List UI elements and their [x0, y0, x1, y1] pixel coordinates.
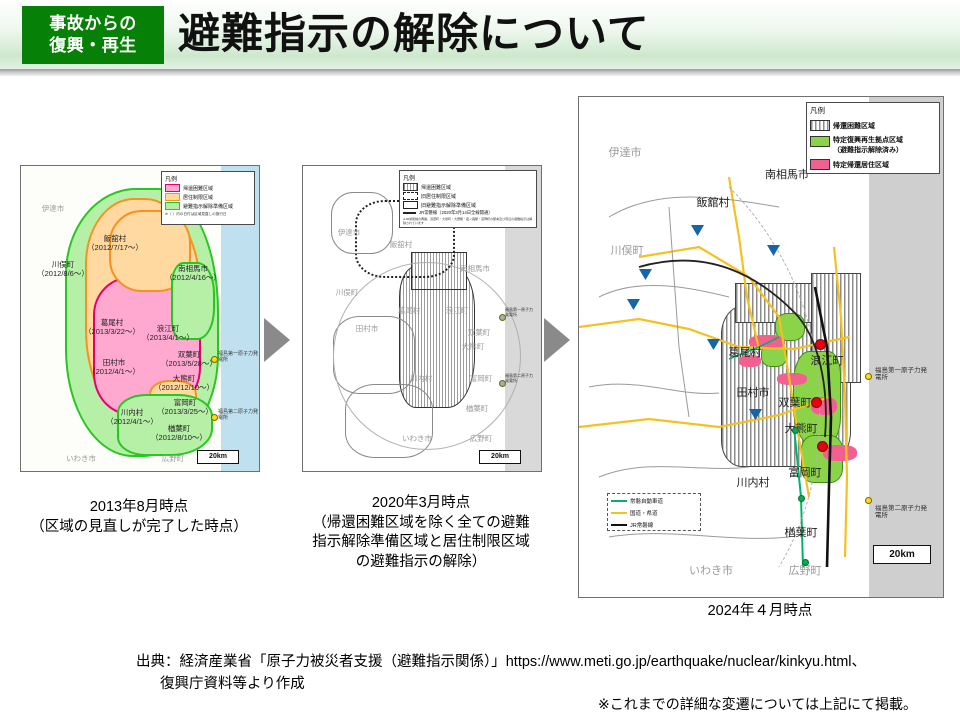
city-label-namie: 浪江町 （2013/4/1～） [139, 324, 197, 342]
legend-swatch-national-prefectural-road [611, 512, 627, 514]
map-2024-road-legend: 常磐自動車道 国道・県道 JR常磐線 [607, 493, 701, 531]
header-category-tag: 事故からの 復興・再生 [22, 6, 164, 64]
legend-item: JR常磐線 [608, 518, 700, 530]
plant-marker-daiichi [865, 373, 872, 380]
map-2013-caption: 2013年8月時点 （区域の見直しが完了した時点） [10, 498, 268, 537]
footnote: ※これまでの詳細な変遷については上記にて掲載。 [598, 694, 917, 714]
city-label-date: 伊達市 [327, 228, 371, 237]
city-label-katsurao: 葛尾村 [387, 306, 431, 315]
city-label-hirono: 広野町 [459, 434, 503, 443]
caption-line: 2020年3月時点 [286, 494, 556, 514]
arrow-2020-to-2024 [544, 318, 570, 362]
legend-title: 凡例 [162, 172, 254, 184]
city-label-tamura: 田村市 （2012/4/1～） [83, 358, 145, 376]
caption-line: 指示解除準備区域と居住制限区域 [286, 533, 556, 553]
city-label-iwaki: いわき市 [57, 454, 105, 463]
legend-label: 常磐自動車道 [630, 497, 663, 505]
legend-swatch-evac-prep [165, 202, 180, 210]
legend-label: JR常磐線 [630, 521, 653, 529]
plant-label-daiichi: 福島第一原子力発電所 [505, 308, 535, 317]
plant-marker-daiichi [211, 356, 218, 363]
city-label-kawamata: 川俣町 （2012/8/6～） [35, 260, 91, 278]
city-label-naraha: 楢葉町 [775, 527, 827, 540]
legend-swatch-specified-return-residence [810, 159, 830, 170]
legend-item: 特定帰還居住区域 [807, 156, 939, 171]
legend-title: 凡例 [400, 171, 536, 183]
marker-point-a [815, 339, 826, 350]
legend-item: 旧居住制限区域 [400, 192, 536, 201]
header-tag-line2: 復興・再生 [49, 35, 137, 57]
plant-marker-daini [211, 414, 218, 421]
plant-label-daiichi: 福島第一原子力発電所 [218, 352, 258, 364]
legend-item: 常磐自動車道 [608, 494, 700, 506]
plant-label-daini: 福島第二原子力発電所 [218, 410, 258, 422]
map-2020-caption: 2020年3月時点 （帰還困難区域を除く全ての避難 指示解除準備区域と居住制限区… [286, 494, 556, 572]
city-label-tomioka: 富岡町 [779, 467, 831, 480]
legend-swatch-residence-restricted [165, 193, 180, 201]
city-label-kawauchi: 川内村 [727, 477, 779, 490]
legend-swatch-former-residence-restricted [403, 192, 418, 200]
legend-item: 特定復興再生拠点区域 （避難指示解除済み） [807, 132, 939, 156]
caption-line: （帰還困難区域を除く全ての避難 [286, 514, 556, 534]
city-label-minamisoma: 南相馬市 （2012/4/16～） [161, 264, 225, 282]
plant-label-daiichi: 福島第一原子力発電所 [875, 367, 927, 382]
city-label-katsurao: 葛尾村 [719, 347, 771, 360]
marker-point-b [811, 397, 822, 408]
legend-item: 居住制限区域 [162, 193, 254, 202]
legend-label: 旧避難指示解除準備区域 [421, 202, 476, 209]
source-citation: 出典：経済産業省「原子力被災者支援（避難指示関係）」https://www.me… [136, 652, 952, 696]
legend-item: 帰還困難区域 [807, 117, 939, 132]
city-label-katsurao: 葛尾村 （2013/3/22～） [83, 318, 141, 336]
scale-bar: 20km [197, 450, 239, 464]
city-label-naraha: 楢葉町 [455, 404, 499, 413]
plant-marker-daini [865, 497, 872, 504]
city-label-tamura: 田村市 [345, 324, 389, 333]
map-2024: 伊達市 川俣町 飯舘村 南相馬市 葛尾村 浪江町 田村市 双葉町 大熊町 富岡町… [578, 96, 944, 598]
city-label-date: 伊達市 [599, 147, 651, 160]
scale-bar: 20km [479, 450, 521, 464]
city-label-iitate: 飯舘村 [687, 197, 739, 210]
legend-label: 帰還困難区域 [183, 185, 213, 192]
legend-label: 帰還困難区域 [421, 184, 451, 191]
map-2013: 伊達市 川俣町 （2012/8/6～） 飯舘村 （2012/7/17～） 南相馬… [20, 165, 260, 472]
legend-label: 国道・県道 [630, 509, 658, 517]
caption-line: 2024年４月時点 [578, 602, 942, 622]
marker-point-c [817, 441, 828, 452]
header-tag-line1: 事故からの [49, 13, 137, 35]
legend-swatch-difficult-return [403, 183, 418, 191]
map-2020-legend: 凡例 帰還困難区域 旧居住制限区域 旧避難指示解除準備区域 JR常磐線（2020… [399, 170, 537, 228]
plant-label-daini: 福島第二原子力発電所 [875, 505, 927, 520]
city-label-futaba: 双葉町 [457, 328, 501, 337]
city-label-kawamata: 川俣町 [325, 288, 369, 297]
caption-line: の避難指示の解除） [286, 553, 556, 573]
city-label-naraha: 楢葉町 （2012/8/10～） [149, 424, 209, 442]
legend-note: ※JR常磐線の再開、双葉町・大熊町・大野駅・夜ノ森駅・富岡町の駅舎及び周辺の避難… [400, 217, 536, 227]
caption-line: （区域の見直しが完了した時点） [10, 518, 268, 538]
source-line-2: 復興庁資料等より作成 [136, 674, 952, 696]
legend-label: 居住制限区域 [183, 194, 213, 201]
legend-swatch-difficult-return [165, 184, 180, 192]
legend-swatch-jr-joban-line [611, 524, 627, 527]
city-label-namie: 浪江町 [801, 355, 853, 368]
city-label-kawamata: 川俣町 [601, 245, 653, 258]
city-label-tomioka: 富岡町 [459, 374, 503, 383]
city-label-minamisoma: 南相馬市 [451, 264, 499, 273]
legend-label: 特定復興再生拠点区域 [833, 135, 903, 145]
expressway-node-c [802, 559, 809, 566]
legend-label: 帰還困難区域 [833, 121, 875, 131]
city-label-date: 伊達市 [31, 204, 75, 213]
caption-line: 2013年8月時点 [10, 498, 268, 518]
legend-swatch-jr-joban-line [403, 212, 416, 214]
legend-item: JR常磐線（2020年3月14日全線開通） [400, 210, 536, 217]
legend-label: 旧居住制限区域 [421, 193, 456, 200]
city-label-tomioka: 富岡町 （2013/3/25～） [155, 398, 215, 416]
city-label-iwaki: いわき市 [683, 565, 739, 578]
legend-item: 旧避難指示解除準備区域 [400, 201, 536, 210]
city-label-iwaki: いわき市 [393, 434, 441, 443]
map-2020: 伊達市 川俣町 飯舘村 南相馬市 葛尾村 浪江町 田村市 双葉町 大熊町 富岡町… [302, 165, 542, 472]
city-label-okuma: 大熊町 （2012/12/10～） [153, 374, 215, 392]
legend-sublabel: （避難指示解除済み） [833, 145, 903, 155]
city-label-iitate: 飯舘村 [379, 240, 423, 249]
legend-label: 避難指示解除準備区域 [183, 203, 233, 210]
page-title: 避難指示の解除について [178, 3, 650, 65]
legend-swatch-joban-expressway [611, 500, 627, 502]
legend-item: 国道・県道 [608, 506, 700, 518]
arrow-2013-to-2020 [264, 318, 290, 362]
expressway-node-b [798, 495, 805, 502]
city-label-futaba: 双葉町 （2013/5/28～） [161, 350, 217, 368]
expressway-node-a [792, 427, 799, 434]
city-label-hirono: 広野町 [151, 454, 195, 463]
header-divider [0, 69, 960, 76]
legend-title: 凡例 [807, 103, 939, 117]
legend-swatch-reconstruction-hub [810, 136, 830, 147]
legend-item: 帰還困難区域 [162, 184, 254, 193]
city-label-iitate: 飯舘村 （2012/7/17～） [83, 234, 147, 252]
plant-label-daini: 福島第二原子力発電所 [505, 374, 535, 383]
source-line-1: 出典：経済産業省「原子力被災者支援（避難指示関係）」https://www.me… [136, 652, 952, 674]
city-label-okuma: 大熊町 [451, 342, 495, 351]
legend-swatch-difficult-return [810, 120, 830, 131]
map-2013-legend: 凡例 帰還困難区域 居住制限区域 避難指示解除準備区域 ※（ ）内の日付は区域見… [161, 171, 255, 225]
page-header: 事故からの 復興・再生 避難指示の解除について [0, 0, 960, 72]
legend-note: ※（ ）内の日付は区域見直しの施行日 [162, 211, 254, 217]
city-label-okuma: 大熊町 [775, 423, 827, 436]
legend-label: JR常磐線（2020年3月14日全線開通） [419, 210, 493, 216]
map-2024-caption: 2024年４月時点 [578, 602, 942, 622]
city-label-namie: 浪江町 [435, 306, 479, 315]
map-2024-legend: 凡例 帰還困難区域 特定復興再生拠点区域 （避難指示解除済み） 特定帰還居住区域 [806, 102, 940, 174]
city-label-hirono: 広野町 [779, 565, 831, 578]
city-label-kawauchi: 川内村 [399, 374, 443, 383]
legend-label: 特定帰還居住区域 [833, 160, 889, 170]
legend-item: 避難指示解除準備区域 [162, 202, 254, 211]
legend-item: 帰還困難区域 [400, 183, 536, 192]
legend-swatch-former-evac-prep [403, 201, 418, 209]
scale-bar: 20km [873, 545, 931, 564]
